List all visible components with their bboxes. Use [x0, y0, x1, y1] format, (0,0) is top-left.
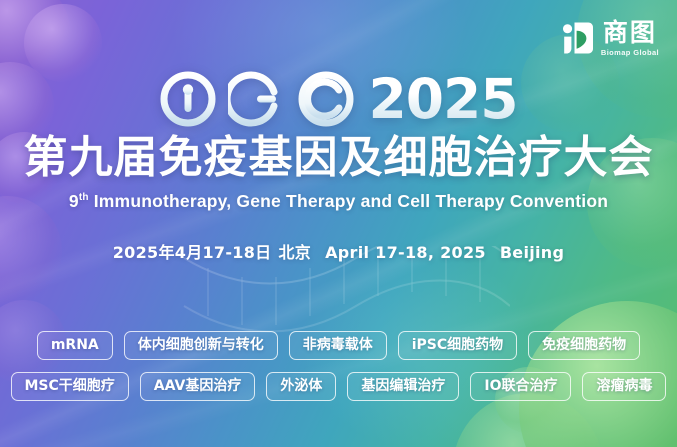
topic-tag[interactable]: 免疫细胞药物 — [528, 331, 640, 360]
dateline-city-cn: 北京 — [278, 243, 311, 262]
topic-tag[interactable]: 基因编辑治疗 — [347, 372, 459, 401]
topic-tag[interactable]: MSC干细胞疗 — [11, 372, 129, 401]
igc-letter-g-icon — [228, 70, 286, 128]
igc-letter-i-icon — [159, 70, 217, 128]
topic-tag[interactable]: 溶瘤病毒 — [582, 372, 666, 401]
topic-tag[interactable]: AAV基因治疗 — [140, 372, 256, 401]
dateline-city-en: Beijing — [500, 243, 564, 262]
topic-tag[interactable]: IO联合治疗 — [470, 372, 571, 401]
subtitle-ordinal-suffix: th — [79, 193, 89, 204]
topic-tag[interactable]: 外泌体 — [266, 372, 336, 401]
topic-tag-row-1: mRNA 体内细胞创新与转化 非病毒载体 iPSC细胞药物 免疫细胞药物 — [37, 331, 640, 360]
event-title-lockup: 2025 — [159, 70, 517, 128]
igc-letter-c-icon — [297, 70, 355, 128]
event-dateline: 2025年4月17-18日北京April 17-18, 2025Beijing — [113, 239, 565, 263]
subtitle-ordinal: 9 — [69, 191, 79, 211]
topic-tag-row-2: MSC干细胞疗 AAV基因治疗 外泌体 基因编辑治疗 IO联合治疗 溶瘤病毒 — [11, 372, 667, 401]
igc-acronym-icon — [159, 70, 355, 128]
topic-tag-groups: mRNA 体内细胞创新与转化 非病毒载体 iPSC细胞药物 免疫细胞药物 MSC… — [0, 331, 677, 401]
event-year: 2025 — [368, 72, 517, 127]
topic-tag[interactable]: mRNA — [37, 331, 113, 360]
conference-banner: 商图 Biomap Global — [0, 0, 677, 447]
event-subtitle-en: 9th Immunotherapy, Gene Therapy and Cell… — [69, 191, 608, 212]
topic-tag[interactable]: 非病毒载体 — [289, 331, 387, 360]
dateline-date-en: April 17-18, 2025 — [325, 243, 486, 262]
subtitle-rest: Immunotherapy, Gene Therapy and Cell The… — [89, 191, 608, 211]
topic-tag[interactable]: iPSC细胞药物 — [398, 331, 517, 360]
event-headline-cn: 第九届免疫基因及细胞治疗大会 — [24, 134, 654, 182]
dateline-date-cn: 2025年4月17-18日 — [113, 243, 272, 262]
topic-tag[interactable]: 体内细胞创新与转化 — [124, 331, 278, 360]
banner-content: 2025 第九届免疫基因及细胞治疗大会 9th Immunotherapy, G… — [0, 0, 677, 447]
